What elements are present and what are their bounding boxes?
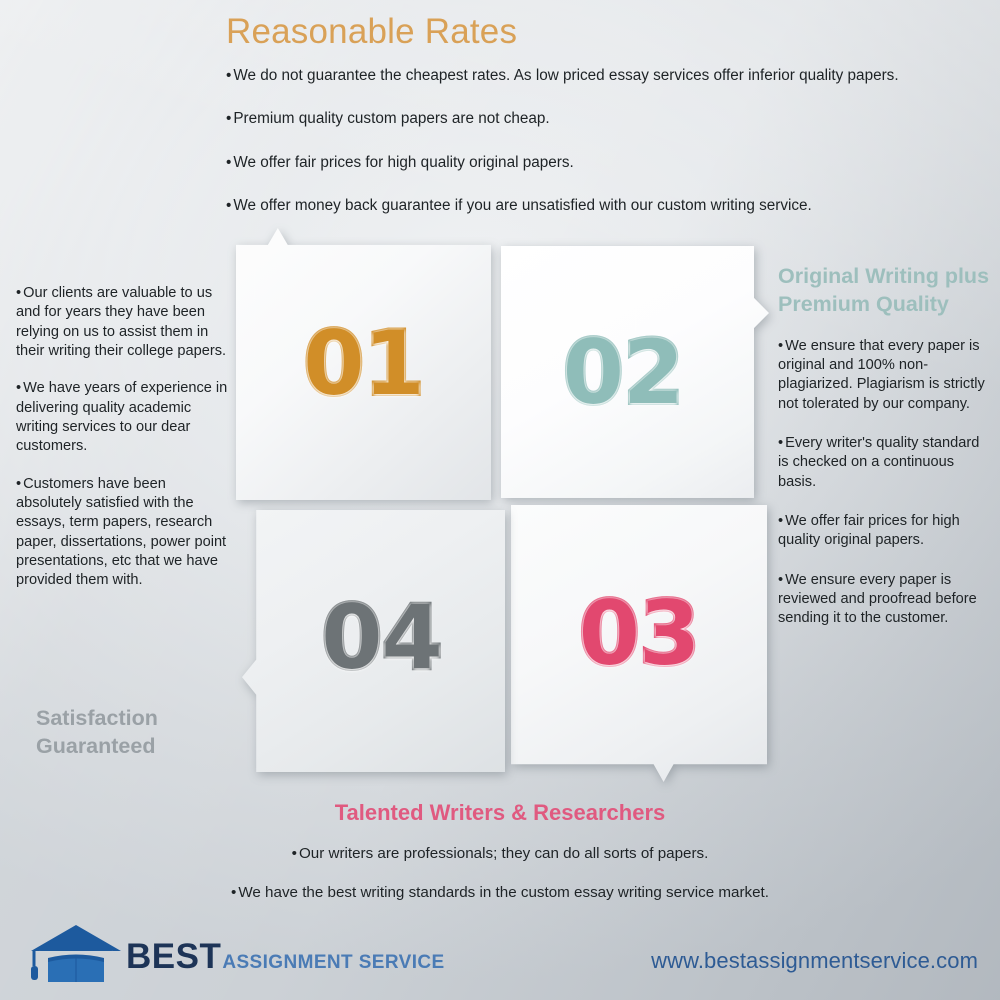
bullet-dot-icon: • [778,338,783,354]
brand-logo-text: BEST ASSIGNMENT SERVICE [126,937,445,984]
bottom-bullet-2: •We have the best writing standards in t… [60,883,940,903]
bullet-dot-icon: • [778,513,783,529]
top-bullet-1-text: We do not guarantee the cheapest rates. … [233,67,898,84]
right-bullet-1: •We ensure that every paper is original … [778,337,990,414]
quadrant-03-number: 03 [511,505,767,782]
satisfaction-heading-wrap: Satisfaction Guaranteed [36,704,251,761]
right-section: Original Writing plus Premium Quality •W… [778,262,990,649]
quadrant-02-number: 02 [501,246,769,498]
brand-name-secondary: ASSIGNMENT SERVICE [222,952,444,974]
left-section: •Our clients are valuable to us and for … [16,284,228,609]
quadrant-02[interactable]: 02 [501,246,769,498]
bullet-dot-icon: • [226,110,231,127]
top-bullet-4: •We offer money back guarantee if you ar… [226,196,986,216]
bullet-dot-icon: • [226,197,231,214]
top-section: Reasonable Rates •We do not guarantee th… [226,12,986,240]
original-writing-heading: Original Writing plus Premium Quality [778,262,990,319]
quadrant-03[interactable]: 03 [511,505,767,782]
quadrant-diagram: 01 02 03 04 [236,228,776,782]
bullet-dot-icon: • [231,884,236,901]
right-bullet-2: •Every writer's quality standard is chec… [778,434,990,492]
bullet-dot-icon: • [16,476,21,492]
bottom-bullet-2-text: We have the best writing standards in th… [238,884,769,901]
top-bullet-3-text: We offer fair prices for high quality or… [233,154,573,171]
reasonable-rates-heading: Reasonable Rates [226,12,986,52]
bottom-bullet-1-text: Our writers are professionals; they can … [299,845,708,862]
top-bullet-2: •Premium quality custom papers are not c… [226,109,986,129]
quadrant-01-number: 01 [236,228,491,500]
left-bullet-2-text: We have years of experience in deliverin… [16,380,227,454]
quadrant-04-number: 04 [242,510,505,772]
footer: BEST ASSIGNMENT SERVICE www.bestassignme… [0,912,1000,1000]
left-bullet-1-text: Our clients are valuable to us and for y… [16,285,226,359]
bullet-dot-icon: • [226,154,231,171]
top-bullet-3: •We offer fair prices for high quality o… [226,153,986,173]
graduation-cap-icon [30,922,122,984]
brand-logo[interactable]: BEST ASSIGNMENT SERVICE [30,918,445,984]
right-bullet-3: •We offer fair prices for high quality o… [778,512,990,551]
bottom-section: Talented Writers & Researchers •Our writ… [60,798,940,923]
bullet-dot-icon: • [16,285,21,301]
bottom-bullet-1: •Our writers are professionals; they can… [60,844,940,864]
left-bullet-2: •We have years of experience in deliveri… [16,379,228,456]
website-url[interactable]: www.bestassignmentservice.com [651,948,978,974]
top-bullet-1: •We do not guarantee the cheapest rates.… [226,66,986,86]
talented-writers-heading: Talented Writers & Researchers [60,798,940,827]
brand-name-primary: BEST [126,937,221,977]
right-bullet-2-text: Every writer's quality standard is check… [778,435,979,490]
right-bullet-3-text: We offer fair prices for high quality or… [778,513,960,548]
right-bullet-4: •We ensure every paper is reviewed and p… [778,571,990,629]
top-bullet-2-text: Premium quality custom papers are not ch… [233,110,549,127]
bullet-dot-icon: • [778,435,783,451]
left-bullet-3-text: Customers have been absolutely satisfied… [16,476,226,589]
bullet-dot-icon: • [226,67,231,84]
right-bullet-4-text: We ensure every paper is reviewed and pr… [778,572,977,627]
bullet-dot-icon: • [16,380,21,396]
quadrant-01[interactable]: 01 [236,228,491,500]
infographic-poster: Reasonable Rates •We do not guarantee th… [0,0,1000,1000]
left-bullet-1: •Our clients are valuable to us and for … [16,284,228,361]
quadrant-04[interactable]: 04 [242,510,505,772]
bullet-dot-icon: • [292,845,297,862]
top-bullet-4-text: We offer money back guarantee if you are… [233,197,811,214]
right-bullet-1-text: We ensure that every paper is original a… [778,338,985,412]
satisfaction-guaranteed-heading: Satisfaction Guaranteed [36,704,251,761]
left-bullet-3: •Customers have been absolutely satisfie… [16,475,228,591]
bullet-dot-icon: • [778,572,783,588]
